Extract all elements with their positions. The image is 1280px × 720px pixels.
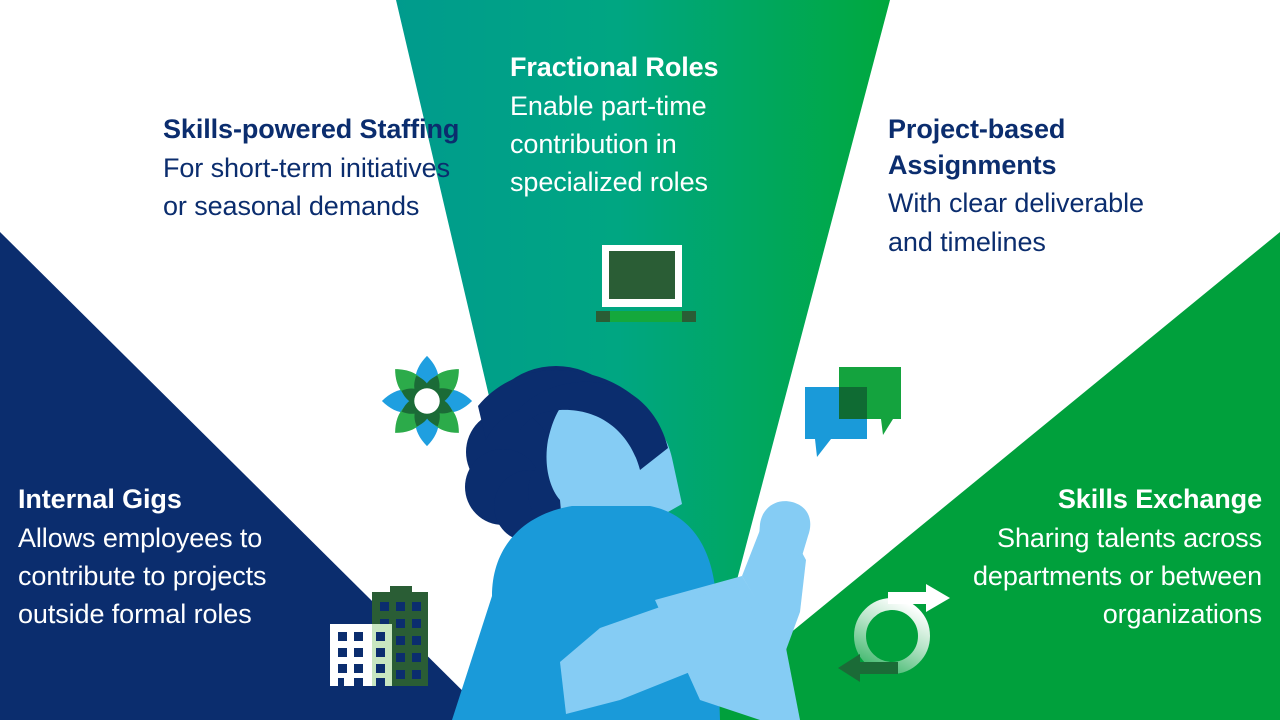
block-title: Internal Gigs <box>18 482 318 518</box>
block-internal-gigs: Internal Gigs Allows employees to contri… <box>18 482 318 634</box>
block-description: Enable part-time contribution in special… <box>510 87 810 202</box>
block-skills-exchange: Skills Exchange Sharing talents across d… <box>920 482 1262 634</box>
block-title: Skills-powered Staffing <box>163 112 473 148</box>
block-skills-powered-staffing: Skills-powered Staffing For short-term i… <box>163 112 473 225</box>
block-title: Project-based Assignments <box>888 112 1153 183</box>
block-title: Fractional Roles <box>510 50 810 86</box>
text-layer: Skills-powered Staffing For short-term i… <box>0 0 1280 720</box>
infographic-canvas: Skills-powered Staffing For short-term i… <box>0 0 1280 720</box>
block-description: Sharing talents across departments or be… <box>920 519 1262 634</box>
block-fractional-roles: Fractional Roles Enable part-time contri… <box>510 50 810 202</box>
block-description: With clear deliverable and timelines <box>888 184 1153 261</box>
block-title: Skills Exchange <box>920 482 1262 518</box>
block-description: Allows employees to contribute to projec… <box>18 519 318 634</box>
block-description: For short-term initiatives or seasonal d… <box>163 149 473 226</box>
block-project-based-assignments: Project-based Assignments With clear del… <box>888 112 1153 261</box>
